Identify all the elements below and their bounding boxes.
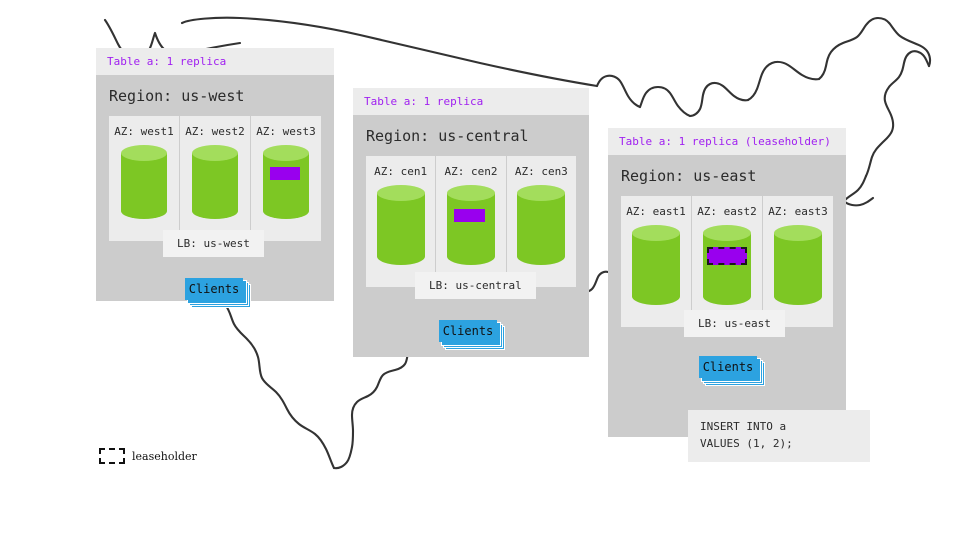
az-label: AZ: east1 bbox=[621, 205, 691, 218]
az-cen1[interactable]: AZ: cen1 bbox=[366, 156, 436, 287]
region-title-us-east: Region: us-east bbox=[608, 155, 846, 196]
az-label: AZ: west2 bbox=[180, 125, 250, 138]
db-node-icon[interactable] bbox=[377, 185, 425, 273]
load-balancer-us-west[interactable]: LB: us-west bbox=[163, 230, 264, 257]
clients-label: Clients bbox=[439, 320, 497, 342]
cylinder-top bbox=[447, 185, 495, 201]
legend: leaseholder bbox=[99, 448, 197, 464]
panel-header-us-west: Table a: 1 replica bbox=[96, 48, 334, 75]
clients-us-central[interactable]: Clients bbox=[439, 320, 505, 352]
load-balancer-us-central[interactable]: LB: us-central bbox=[415, 272, 536, 299]
region-panel-us-central: Table a: 1 replica Region: us-central AZ… bbox=[353, 88, 589, 357]
az-west2[interactable]: AZ: west2 bbox=[180, 116, 251, 241]
cylinder-body bbox=[447, 193, 495, 265]
clients-label: Clients bbox=[185, 278, 243, 300]
az-label: AZ: cen1 bbox=[366, 165, 435, 178]
cylinder-top bbox=[774, 225, 822, 241]
leaseholder-marker bbox=[707, 247, 747, 265]
db-node-icon[interactable] bbox=[703, 225, 751, 313]
cylinder-top bbox=[192, 145, 238, 161]
clients-label: Clients bbox=[699, 356, 757, 378]
az-label: AZ: west3 bbox=[251, 125, 321, 138]
cylinder-body bbox=[121, 153, 167, 219]
leaseholder-swatch-icon bbox=[99, 448, 125, 464]
db-node-icon[interactable] bbox=[121, 145, 167, 227]
cylinder-body bbox=[377, 193, 425, 265]
az-label: AZ: cen2 bbox=[436, 165, 505, 178]
db-node-icon[interactable] bbox=[517, 185, 565, 273]
legend-label: leaseholder bbox=[132, 450, 197, 463]
replica-marker bbox=[454, 209, 485, 222]
cylinder-body bbox=[632, 233, 680, 305]
az-label: AZ: east2 bbox=[692, 205, 762, 218]
db-node-icon[interactable] bbox=[192, 145, 238, 227]
az-label: AZ: cen3 bbox=[507, 165, 576, 178]
az-east1[interactable]: AZ: east1 bbox=[621, 196, 692, 327]
az-strip-us-west: AZ: west1 AZ: west2 AZ: west3 bbox=[109, 116, 321, 241]
az-cen2[interactable]: AZ: cen2 bbox=[436, 156, 506, 287]
db-node-icon[interactable] bbox=[774, 225, 822, 313]
cylinder-top bbox=[703, 225, 751, 241]
panel-header-us-east: Table a: 1 replica (leaseholder) bbox=[608, 128, 846, 155]
az-east3[interactable]: AZ: east3 bbox=[763, 196, 833, 327]
region-panel-us-east: Table a: 1 replica (leaseholder) Region:… bbox=[608, 128, 846, 437]
load-balancer-us-east[interactable]: LB: us-east bbox=[684, 310, 785, 337]
cylinder-body bbox=[192, 153, 238, 219]
az-label: AZ: west1 bbox=[109, 125, 179, 138]
cylinder-body bbox=[517, 193, 565, 265]
cylinder-body bbox=[263, 153, 309, 219]
region-title-us-central: Region: us-central bbox=[353, 115, 589, 156]
replica-marker bbox=[270, 167, 300, 180]
cylinder-top bbox=[517, 185, 565, 201]
panel-header-us-central: Table a: 1 replica bbox=[353, 88, 589, 115]
az-label: AZ: east3 bbox=[763, 205, 833, 218]
sql-statement-note: INSERT INTO a VALUES (1, 2); bbox=[688, 410, 870, 462]
cylinder-top bbox=[121, 145, 167, 161]
cylinder-body bbox=[774, 233, 822, 305]
az-west1[interactable]: AZ: west1 bbox=[109, 116, 180, 241]
clients-us-west[interactable]: Clients bbox=[185, 278, 251, 310]
cylinder-top bbox=[263, 145, 309, 161]
clients-us-east[interactable]: Clients bbox=[699, 356, 765, 388]
az-cen3[interactable]: AZ: cen3 bbox=[507, 156, 576, 287]
az-west3[interactable]: AZ: west3 bbox=[251, 116, 321, 241]
region-title-us-west: Region: us-west bbox=[96, 75, 334, 116]
az-strip-us-central: AZ: cen1 AZ: cen2 AZ: cen3 bbox=[366, 156, 576, 287]
diagram-canvas: 2 Table a: 1 replica Region: us-west AZ:… bbox=[0, 0, 960, 540]
db-node-icon[interactable] bbox=[447, 185, 495, 273]
az-strip-us-east: AZ: east1 AZ: east2 AZ: east3 bbox=[621, 196, 833, 327]
cylinder-body bbox=[703, 233, 751, 305]
az-east2[interactable]: AZ: east2 bbox=[692, 196, 763, 327]
cylinder-top bbox=[632, 225, 680, 241]
region-panel-us-west: Table a: 1 replica Region: us-west AZ: w… bbox=[96, 48, 334, 301]
db-node-icon[interactable] bbox=[263, 145, 309, 227]
db-node-icon[interactable] bbox=[632, 225, 680, 313]
cylinder-top bbox=[377, 185, 425, 201]
